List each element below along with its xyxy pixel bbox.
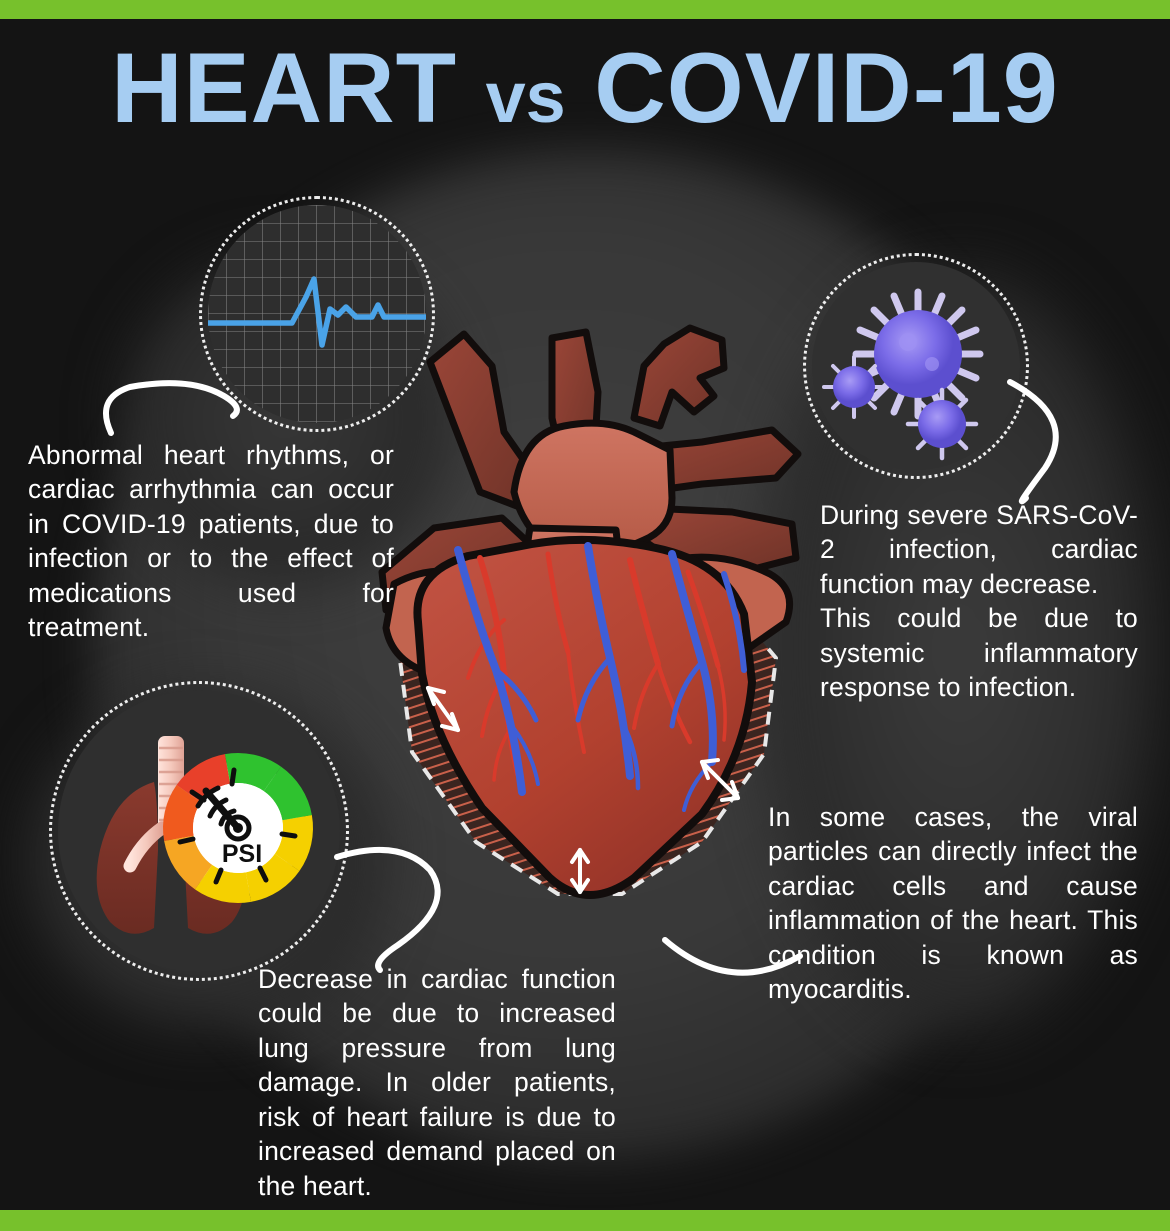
green-bottom-bar <box>0 1210 1170 1231</box>
green-top-bar <box>0 0 1170 19</box>
callout-arrhythmia-text: Abnormal heart rhythms, or cardiac arrhy… <box>28 438 394 645</box>
callout-sars-cov-2: During severe SARS-CoV-2 infection, card… <box>820 498 1138 705</box>
callout-sars-line1: During severe SARS-CoV-2 infection, card… <box>820 498 1138 601</box>
callout-myocarditis: In some cases, the viral particles can d… <box>768 800 1138 1007</box>
ecg-badge[interactable] <box>208 205 426 423</box>
gauge-label: PSI <box>222 840 262 868</box>
callout-lung-pressure: Decrease in cardiac function could be du… <box>258 962 616 1203</box>
callout-arrhythmia: Abnormal heart rhythms, or cardiac arrhy… <box>28 438 394 645</box>
ecg-trace <box>208 279 426 345</box>
heart-illustration <box>372 322 802 962</box>
callout-sars-line2: This could be due to systemic inflammato… <box>820 601 1138 704</box>
pressure-gauge-icon: PSI <box>172 762 305 895</box>
infographic-poster: HEART vs COVID-19 <box>0 0 1170 1231</box>
virus-particle-small-left <box>824 357 884 417</box>
ecg-grid <box>208 205 426 423</box>
title-word-vs: vs <box>486 58 566 138</box>
callout-myocarditis-text: In some cases, the viral particles can d… <box>768 800 1138 1007</box>
page-title: HEART vs COVID-19 <box>0 36 1170 140</box>
title-word-covid: COVID-19 <box>594 32 1059 143</box>
virus-particle-large <box>856 292 980 416</box>
gauge-needle <box>206 791 238 828</box>
virus-badge[interactable] <box>812 262 1020 470</box>
lungs-gauge-badge[interactable]: PSI <box>58 690 340 972</box>
callout-lung-pressure-text: Decrease in cardiac function could be du… <box>258 962 616 1203</box>
virus-particle-small-bottom <box>908 390 976 458</box>
title-word-heart: HEART <box>111 32 457 143</box>
lungs-icon <box>97 736 246 934</box>
